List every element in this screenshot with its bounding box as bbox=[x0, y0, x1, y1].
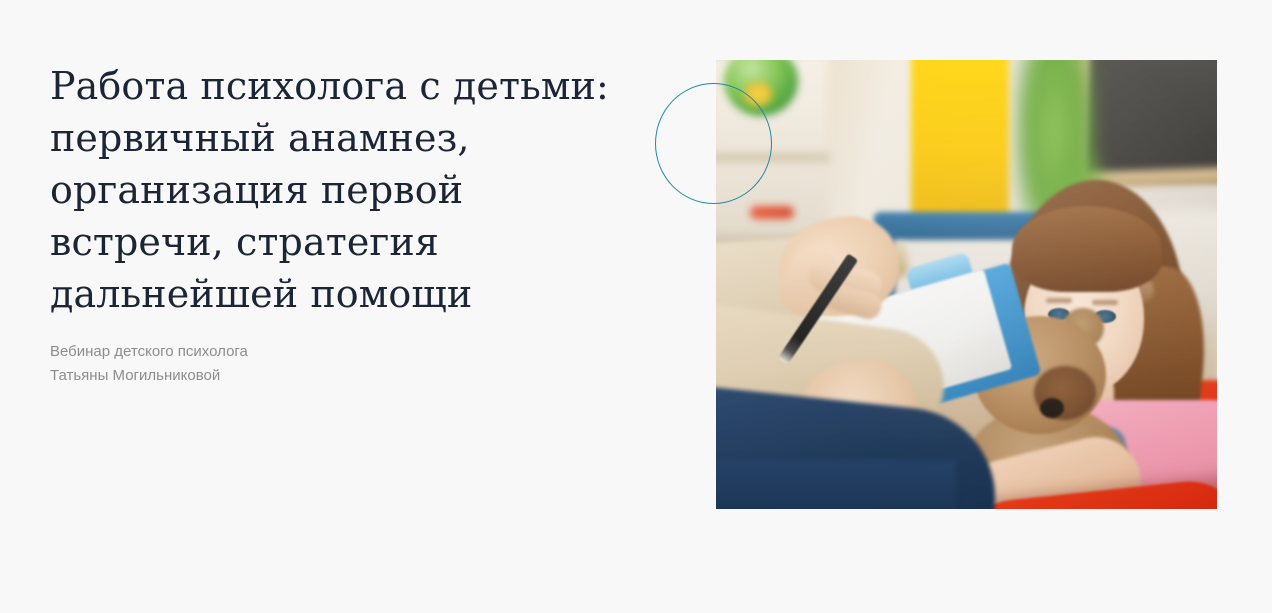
photo-girl-bangs bbox=[1012, 206, 1162, 292]
title-slide: Работа психолога с детьми: первичный ана… bbox=[0, 0, 1272, 613]
photo-yellow-chair-back bbox=[911, 60, 1009, 218]
page-title: Работа психолога с детьми: первичный ана… bbox=[50, 60, 610, 320]
photo-red-toy bbox=[750, 206, 794, 219]
slide-subtitle: Вебинар детского психолога Татьяны Могил… bbox=[50, 340, 248, 388]
photo-girl-brow-right bbox=[1092, 300, 1118, 305]
photo-girl-brow-left bbox=[1046, 298, 1072, 303]
text-column: Работа психолога с детьми: первичный ана… bbox=[50, 60, 610, 320]
photo-ball-highlight bbox=[744, 82, 772, 106]
photo-bear-nose bbox=[1040, 398, 1064, 418]
photo-psychologist-trousers-lower bbox=[716, 460, 956, 509]
hero-photo bbox=[716, 60, 1217, 509]
photo-shelf-board-top bbox=[716, 152, 830, 163]
